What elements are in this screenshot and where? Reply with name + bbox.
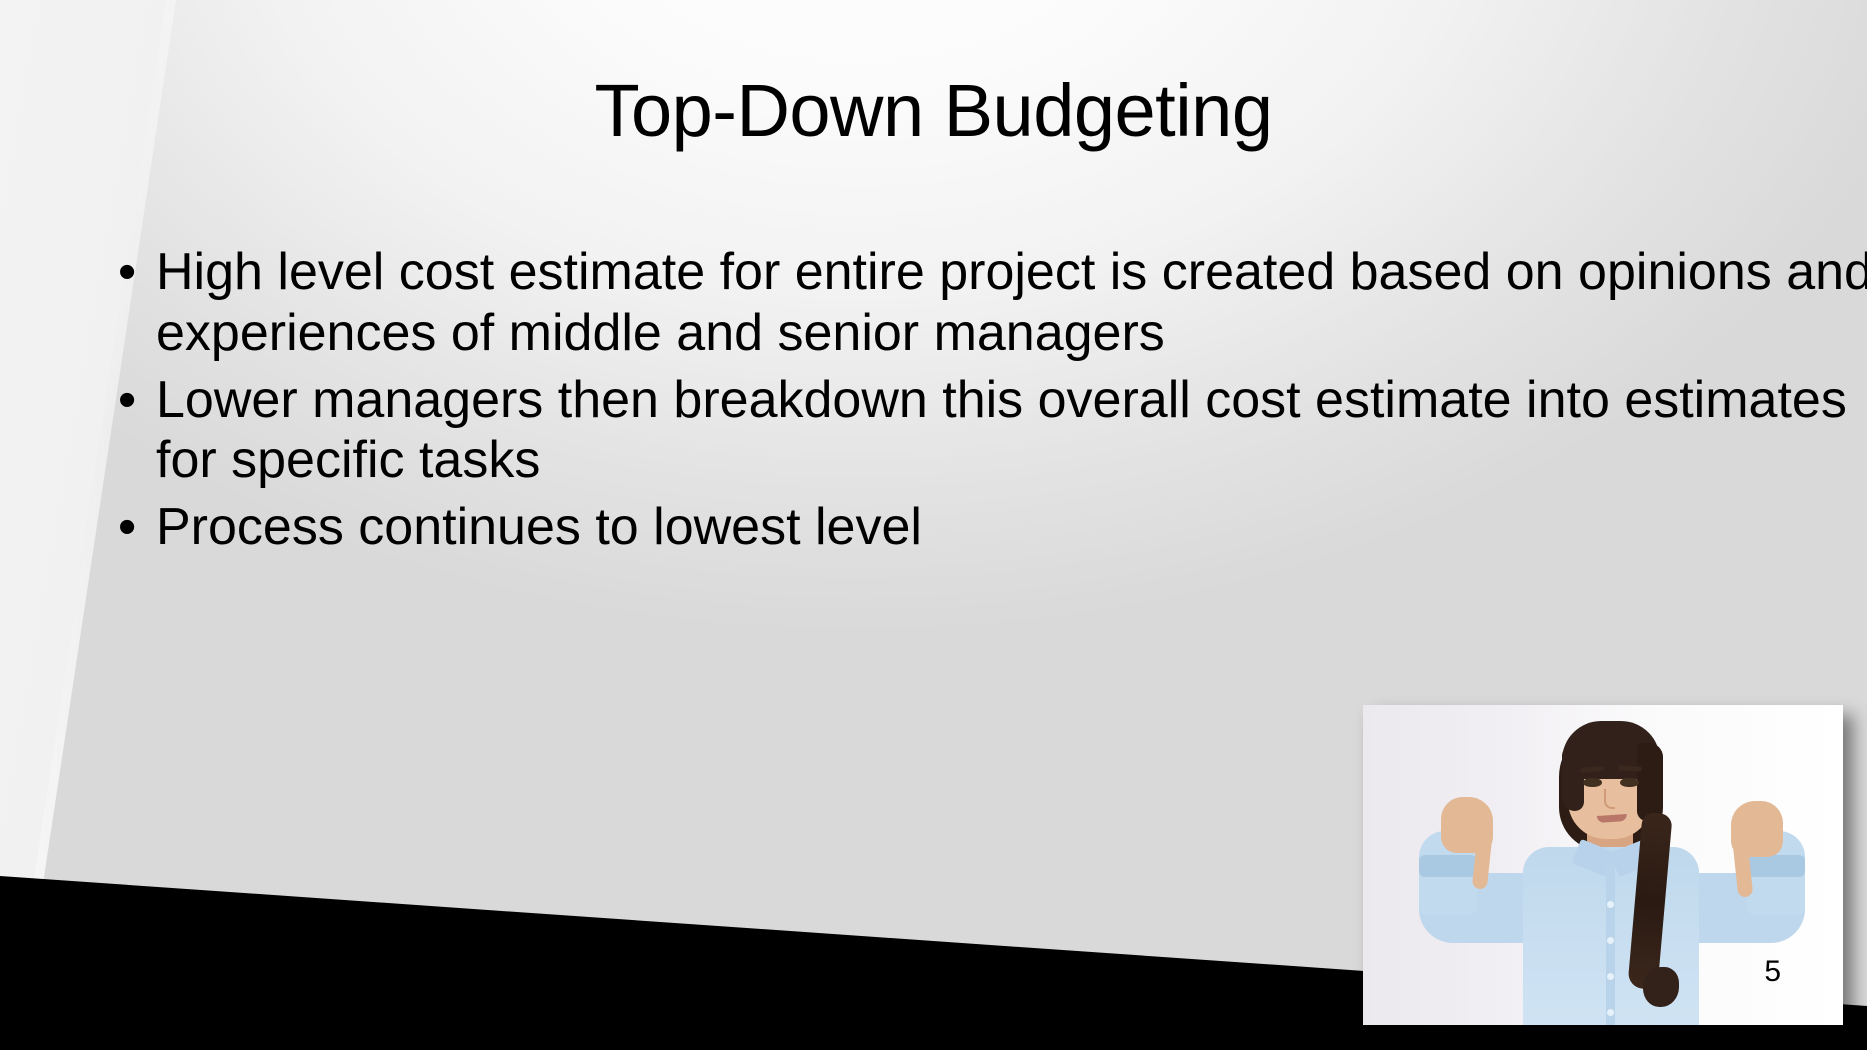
figure-shirt-placket (1606, 863, 1615, 1025)
bullet-marker-icon: • (112, 370, 156, 431)
figure-shirt-button (1607, 901, 1614, 908)
figure-left-hand (1441, 797, 1493, 853)
bullet-item-3: • Process continues to lowest level (112, 497, 1867, 558)
slide-body: • High level cost estimate for entire pr… (112, 242, 1867, 564)
figure-hair-left (1562, 745, 1584, 811)
figure-shirt-button (1607, 1009, 1614, 1016)
figure-braid-tip (1643, 967, 1679, 1007)
bullet-item-1: • High level cost estimate for entire pr… (112, 242, 1867, 364)
bullet-marker-icon: • (112, 497, 156, 558)
figure-right-cuff (1747, 855, 1805, 877)
bullet-item-2: • Lower managers then breakdown this ove… (112, 370, 1867, 492)
bullet-text-1: High level cost estimate for entire proj… (156, 242, 1867, 364)
presentation-slide: Top-Down Budgeting • High level cost est… (0, 0, 1867, 1050)
figure-right-hand (1731, 801, 1783, 857)
bullet-marker-icon: • (112, 242, 156, 303)
figure-shirt-button (1607, 973, 1614, 980)
slide-photo: 5 (1363, 705, 1843, 1025)
figure-left-cuff (1419, 855, 1477, 877)
bullet-text-3: Process continues to lowest level (156, 497, 1867, 558)
bullet-text-2: Lower managers then breakdown this overa… (156, 370, 1867, 492)
figure-nose (1604, 789, 1615, 809)
figure-right-eye (1620, 778, 1639, 787)
slide-title: Top-Down Budgeting (0, 72, 1867, 150)
slide-page-number: 5 (1764, 957, 1781, 987)
figure-hair-right (1637, 743, 1663, 821)
figure-shirt-button (1607, 937, 1614, 944)
figure-left-eye (1583, 778, 1602, 787)
